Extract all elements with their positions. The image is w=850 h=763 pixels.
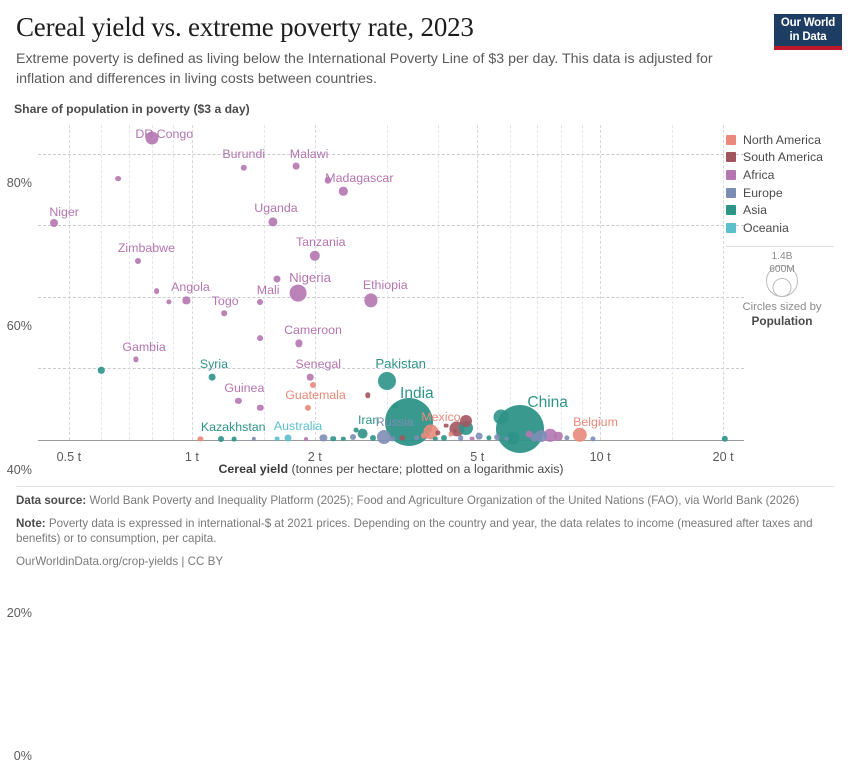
footer-source-text: World Bank Poverty and Inequality Platfo… (86, 494, 799, 507)
scatter-point[interactable] (496, 405, 544, 453)
scatter-point[interactable] (365, 294, 378, 307)
scatter-point[interactable] (232, 437, 237, 442)
scatter-point[interactable] (487, 436, 492, 441)
size-label-large: 1.4B (772, 251, 793, 262)
scatter-point[interactable] (133, 357, 138, 362)
scatter-point[interactable] (353, 428, 358, 433)
x-minor-gridline (537, 125, 538, 440)
scatter-point[interactable] (435, 430, 440, 435)
scatter-point[interactable] (295, 340, 302, 347)
legend-item-north-america[interactable]: North America (726, 131, 844, 149)
scatter-point[interactable] (320, 434, 327, 441)
scatter-point-label: Iran (358, 414, 379, 427)
scatter-point-label: Madagascar (325, 172, 393, 185)
legend-divider (726, 246, 834, 247)
footer-divider (16, 486, 834, 487)
scatter-point[interactable] (458, 435, 464, 441)
legend-swatch-icon (726, 152, 736, 162)
x-gridline (600, 125, 601, 440)
scatter-point[interactable] (304, 405, 310, 411)
scatter-point[interactable] (370, 435, 376, 441)
scatter-point-label: India (400, 387, 434, 400)
scatter-point[interactable] (257, 299, 263, 305)
legend-swatch-icon (726, 188, 736, 198)
scatter-point[interactable] (495, 434, 501, 440)
x-minor-gridline (129, 125, 130, 440)
y-axis-tick-label: 40% (7, 463, 32, 477)
scatter-point-label: Mali (257, 284, 280, 297)
scatter-point[interactable] (357, 428, 368, 439)
scatter-point[interactable] (241, 165, 247, 171)
scatter-point-label: China (527, 396, 568, 409)
scatter-point[interactable] (448, 432, 453, 437)
scatter-point[interactable] (423, 425, 438, 440)
chart-subtitle: Extreme poverty is defined as living bel… (16, 50, 754, 89)
scatter-point[interactable] (198, 436, 203, 441)
y-gridline: 0% (38, 440, 744, 441)
owid-logo[interactable]: Our World in Data (774, 14, 842, 50)
scatter-point-label: Nigeria (289, 271, 331, 284)
legend-item-label: Europe (743, 186, 783, 200)
scatter-point[interactable] (493, 409, 508, 424)
scatter-point[interactable] (304, 437, 308, 441)
scatter-point[interactable] (414, 435, 420, 441)
scatter-point[interactable] (285, 435, 292, 442)
scatter-point-label: Senegal (296, 358, 341, 371)
chart-header: Cereal yield vs. extreme poverty rate, 2… (16, 10, 756, 89)
legend-item-label: Africa (743, 168, 774, 182)
scatter-point[interactable] (365, 393, 370, 398)
y-gridline: 20% (38, 368, 744, 369)
legend-item-oceania[interactable]: Oceania (726, 219, 844, 237)
scatter-point[interactable] (324, 177, 330, 183)
x-gridline (723, 125, 724, 440)
scatter-point-label: Uganda (254, 202, 297, 215)
x-minor-gridline (510, 125, 511, 440)
scatter-point[interactable] (252, 437, 256, 441)
scatter-point-label: Cameroon (284, 324, 342, 337)
scatter-point[interactable] (307, 374, 314, 381)
scatter-point[interactable] (476, 433, 483, 440)
size-legend-caption: Circles sized by Population (726, 300, 838, 329)
scatter-point[interactable] (310, 382, 316, 388)
y-gridline: 40% (38, 297, 744, 298)
scatter-point[interactable] (257, 405, 263, 411)
y-axis-tick-label: 0% (14, 749, 32, 763)
scatter-point-label: Australia (274, 420, 322, 433)
scatter-point[interactable] (506, 431, 519, 444)
scatter-point[interactable] (390, 436, 395, 441)
scatter-point[interactable] (433, 437, 437, 441)
scatter-point[interactable] (154, 289, 160, 295)
y-axis-tick-label: 80% (7, 176, 32, 190)
legend-item-asia[interactable]: Asia (726, 201, 844, 219)
x-minor-gridline (264, 125, 265, 440)
scatter-point[interactable] (290, 285, 307, 302)
scatter-point[interactable] (554, 432, 562, 440)
y-axis-title: Share of population in poverty ($3 a day… (14, 102, 250, 116)
scatter-point[interactable] (459, 421, 473, 435)
logo-line-1: Our World (774, 17, 842, 31)
scatter-point[interactable] (293, 163, 300, 170)
x-minor-gridline (173, 125, 174, 440)
legend-item-label: North America (743, 133, 821, 147)
scatter-point[interactable] (98, 367, 104, 373)
x-minor-gridline (672, 125, 673, 440)
x-axis-title-bold: Cereal yield (218, 462, 288, 476)
scatter-point[interactable] (268, 217, 277, 226)
scatter-point[interactable] (535, 430, 547, 442)
scatter-point[interactable] (115, 176, 121, 182)
scatter-point[interactable] (377, 430, 391, 444)
scatter-point[interactable] (531, 434, 538, 441)
scatter-point[interactable] (444, 423, 449, 428)
scatter-point-label: Belgium (573, 416, 618, 429)
scatter-point[interactable] (310, 250, 320, 260)
legend-swatch-icon (726, 170, 736, 180)
footer-source-label: Data source: (16, 494, 86, 507)
size-label-small: 600M (769, 264, 794, 275)
scatter-point[interactable] (350, 434, 356, 440)
scatter-point[interactable] (572, 428, 586, 442)
scatter-point[interactable] (135, 258, 141, 264)
legend-item-south-america[interactable]: South America (726, 149, 844, 167)
legend-entries: North AmericaSouth AmericaAfricaEuropeAs… (726, 131, 844, 237)
x-gridline (192, 125, 193, 440)
x-minor-gridline (152, 125, 153, 440)
x-gridline (69, 125, 70, 440)
x-minor-gridline (101, 125, 102, 440)
scatter-point[interactable] (339, 187, 347, 195)
scatter-point[interactable] (504, 436, 509, 441)
scatter-point[interactable] (218, 436, 224, 442)
scatter-point-label: Guatemala (285, 389, 346, 402)
size-legend: 1.4B 600M (726, 251, 838, 297)
scatter-point[interactable] (274, 275, 281, 282)
scatter-point[interactable] (378, 372, 396, 390)
scatter-point[interactable] (393, 403, 398, 408)
chart-footer: Data source: World Bank Poverty and Ineq… (16, 493, 826, 576)
scatter-point-label: Zimbabwe (118, 242, 175, 255)
y-gridline: 60% (38, 225, 744, 226)
legend-item-africa[interactable]: Africa (726, 166, 844, 184)
legend-swatch-icon (726, 205, 736, 215)
scatter-point[interactable] (330, 436, 336, 442)
x-minor-gridline (582, 125, 583, 440)
legend-item-label: Asia (743, 203, 767, 217)
scatter-point[interactable] (469, 436, 474, 441)
footer-note-text: Poverty data is expressed in internation… (16, 517, 813, 546)
scatter-point[interactable] (565, 436, 570, 441)
scatter-point[interactable] (235, 398, 241, 404)
footer-source: Data source: World Bank Poverty and Ineq… (16, 493, 826, 509)
footer-license[interactable]: OurWorldinData.org/crop-yields | CC BY (16, 554, 826, 570)
logo-line-2: in Data (774, 31, 842, 45)
scatter-point[interactable] (50, 219, 58, 227)
footer-note-label: Note: (16, 517, 46, 530)
scatter-plot: 0%20%40%60%80%0.5 t1 t2 t5 t10 t20 tNige… (38, 125, 744, 440)
legend-swatch-icon (726, 135, 736, 145)
y-axis-tick-label: 60% (7, 319, 32, 333)
scatter-point[interactable] (209, 374, 216, 381)
scatter-point-label: Syria (200, 358, 228, 371)
scatter-point[interactable] (275, 436, 280, 441)
scatter-point-label: Kazakhstan (201, 421, 266, 434)
scatter-point[interactable] (221, 310, 227, 316)
scatter-point[interactable] (183, 297, 190, 304)
x-gridline (477, 125, 478, 440)
scatter-point[interactable] (385, 398, 433, 446)
scatter-point-label: Mexico (421, 411, 460, 424)
scatter-point[interactable] (460, 415, 472, 427)
scatter-point[interactable] (146, 131, 159, 144)
x-axis-title-rest: (tonnes per hectare; plotted on a logari… (288, 462, 564, 476)
scatter-point-label: Burundi (222, 148, 265, 161)
scatter-point-label: Ethiopia (363, 279, 408, 292)
scatter-point-label: Malawi (290, 148, 329, 161)
size-circle-small (773, 278, 792, 297)
scatter-point[interactable] (449, 422, 464, 437)
scatter-point[interactable] (544, 429, 556, 441)
legend-item-label: South America (743, 150, 823, 164)
scatter-point[interactable] (441, 435, 447, 441)
page-title: Cereal yield vs. extreme poverty rate, 2… (16, 10, 756, 44)
x-minor-gridline (387, 125, 388, 440)
x-gridline (315, 125, 316, 440)
size-caption-line-1: Circles sized by (726, 300, 838, 314)
legend-item-label: Oceania (743, 221, 789, 235)
scatter-point[interactable] (590, 436, 595, 441)
scatter-point[interactable] (421, 433, 427, 439)
legend-item-europe[interactable]: Europe (726, 184, 844, 202)
scatter-point[interactable] (341, 437, 345, 441)
chart-legend: North AmericaSouth AmericaAfricaEuropeAs… (726, 131, 844, 329)
x-axis-title: Cereal yield (tonnes per hectare; plotte… (38, 462, 744, 476)
scatter-point-label: Pakistan (375, 357, 426, 370)
scatter-point[interactable] (452, 428, 456, 432)
size-caption-line-2: Population (752, 314, 813, 328)
legend-swatch-icon (726, 223, 736, 233)
scatter-point[interactable] (722, 436, 728, 442)
footer-note: Note: Poverty data is expressed in inter… (16, 516, 826, 547)
scatter-point-label: Russia (376, 416, 414, 429)
scatter-point-label: Tanzania (296, 236, 346, 249)
scatter-point-label: Gambia (122, 341, 165, 354)
scatter-point[interactable] (400, 436, 405, 441)
x-minor-gridline (438, 125, 439, 440)
scatter-point-label: DR Congo (135, 128, 193, 141)
scatter-point[interactable] (526, 431, 533, 438)
x-minor-gridline (561, 125, 562, 440)
scatter-point-label: Togo (212, 295, 239, 308)
y-axis-tick-label: 20% (7, 606, 32, 620)
scatter-point-label: Angola (171, 281, 210, 294)
scatter-point[interactable] (257, 335, 263, 341)
scatter-point[interactable] (167, 300, 172, 305)
scatter-point-label: Niger (49, 206, 79, 219)
scatter-point-label: Guinea (224, 382, 264, 395)
y-gridline: 80% (38, 154, 744, 155)
